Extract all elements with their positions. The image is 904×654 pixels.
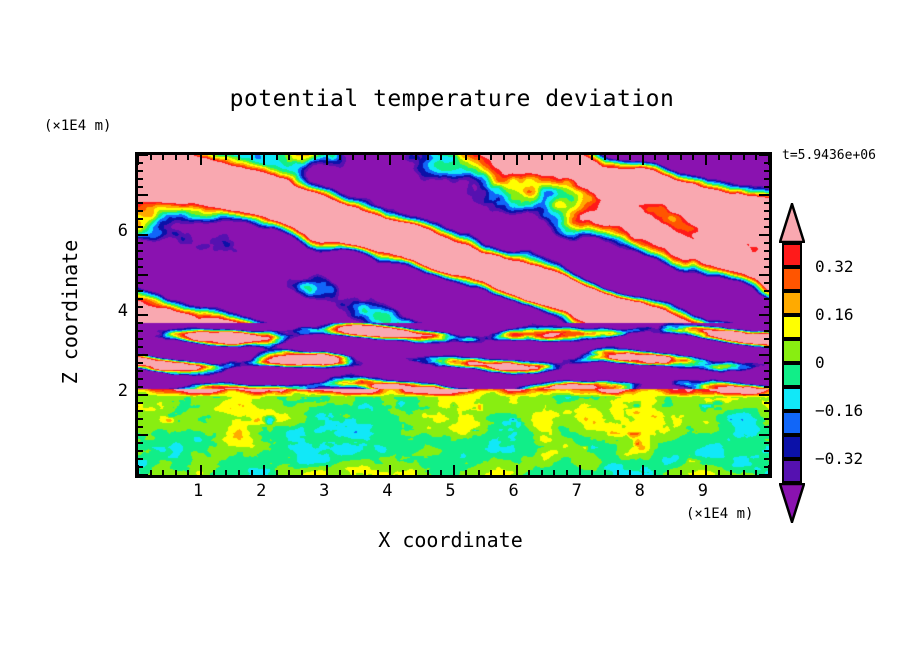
y-minor-tick-right	[764, 226, 770, 228]
colorbar-band	[782, 435, 802, 459]
x-tick-label: 3	[304, 481, 344, 501]
colorbar: 0.320.160−0.16−0.32	[779, 203, 805, 523]
x-minor-tick-bottom	[629, 470, 631, 476]
y-tick-left	[137, 434, 148, 436]
colorbar-band	[782, 339, 802, 363]
colorbar-under-arrow	[779, 483, 805, 523]
y-minor-tick-left	[137, 330, 143, 332]
y-minor-tick-left	[137, 170, 143, 172]
y-minor-tick-right	[764, 370, 770, 372]
y-tick-left	[137, 234, 148, 236]
y-minor-tick-right	[764, 178, 770, 180]
y-minor-tick-right	[764, 330, 770, 332]
x-tick-top	[263, 154, 265, 165]
x-minor-tick-top	[604, 154, 606, 160]
y-minor-tick-left	[137, 450, 143, 452]
x-tick-label: 2	[241, 481, 281, 501]
x-tick-top	[642, 154, 644, 165]
x-minor-tick-bottom	[692, 470, 694, 476]
x-minor-tick-top	[667, 154, 669, 160]
y-minor-tick-right	[764, 346, 770, 348]
x-minor-tick-bottom	[566, 470, 568, 476]
y-minor-tick-left	[137, 418, 143, 420]
x-tick-top	[579, 154, 581, 165]
y-minor-tick-right	[764, 338, 770, 340]
x-minor-tick-bottom	[238, 470, 240, 476]
y-minor-tick-left	[137, 242, 143, 244]
x-tick-top	[326, 154, 328, 165]
x-tick-bottom	[705, 465, 707, 476]
colorbar-tick-label: 0	[815, 353, 825, 372]
y-minor-tick-right	[764, 250, 770, 252]
x-tick-bottom	[263, 465, 265, 476]
y-minor-tick-right	[764, 218, 770, 220]
y-minor-tick-left	[137, 322, 143, 324]
y-tick-left	[137, 154, 148, 156]
x-minor-tick-top	[478, 154, 480, 160]
colorbar-over-arrow	[779, 203, 805, 243]
x-minor-tick-bottom	[162, 470, 164, 476]
x-minor-tick-top	[541, 154, 543, 160]
x-minor-tick-bottom	[415, 470, 417, 476]
x-tick-bottom	[453, 465, 455, 476]
x-minor-tick-bottom	[427, 470, 429, 476]
colorbar-tick-label: 0.16	[815, 305, 854, 324]
y-tick-left	[137, 394, 148, 396]
y-minor-tick-left	[137, 306, 143, 308]
colorbar-band	[782, 387, 802, 411]
x-tick-bottom	[326, 465, 328, 476]
y-minor-tick-left	[137, 178, 143, 180]
colorbar-band	[782, 315, 802, 339]
x-minor-tick-bottom	[718, 470, 720, 476]
x-minor-tick-bottom	[402, 470, 404, 476]
y-minor-tick-left	[137, 442, 143, 444]
y-minor-tick-left	[137, 362, 143, 364]
y-minor-tick-left	[137, 378, 143, 380]
x-tick-bottom	[516, 465, 518, 476]
x-tick-label: 9	[683, 481, 723, 501]
y-minor-tick-left	[137, 338, 143, 340]
y-tick-right	[759, 154, 770, 156]
y-tick-left	[137, 314, 148, 316]
x-minor-tick-top	[213, 154, 215, 160]
y-axis-unit-label: (×1E4 m)	[44, 118, 111, 134]
x-minor-tick-bottom	[553, 470, 555, 476]
y-tick-right	[759, 234, 770, 236]
x-minor-tick-top	[276, 154, 278, 160]
x-minor-tick-top	[251, 154, 253, 160]
x-minor-tick-top	[743, 154, 745, 160]
y-minor-tick-left	[137, 458, 143, 460]
y-minor-tick-left	[137, 298, 143, 300]
x-minor-tick-top	[339, 154, 341, 160]
y-minor-tick-right	[764, 170, 770, 172]
x-minor-tick-top	[301, 154, 303, 160]
x-tick-bottom	[579, 465, 581, 476]
x-minor-tick-bottom	[604, 470, 606, 476]
y-minor-tick-left	[137, 466, 143, 468]
colorbar-band	[782, 243, 802, 267]
x-minor-tick-bottom	[352, 470, 354, 476]
y-minor-tick-right	[764, 322, 770, 324]
x-minor-tick-top	[692, 154, 694, 160]
x-minor-tick-top	[503, 154, 505, 160]
x-minor-tick-bottom	[251, 470, 253, 476]
x-tick-top	[705, 154, 707, 165]
x-minor-tick-top	[314, 154, 316, 160]
y-tick-left	[137, 194, 148, 196]
time-annotation: t=5.9436e+06	[782, 148, 876, 163]
x-tick-top	[453, 154, 455, 165]
x-minor-tick-top	[629, 154, 631, 160]
colorbar-band	[782, 267, 802, 291]
y-minor-tick-right	[764, 290, 770, 292]
x-minor-tick-top	[680, 154, 682, 160]
x-minor-tick-top	[553, 154, 555, 160]
y-minor-tick-right	[764, 442, 770, 444]
x-tick-label: 5	[431, 481, 471, 501]
y-tick-label: 2	[88, 381, 128, 401]
x-minor-tick-top	[718, 154, 720, 160]
x-tick-bottom	[200, 465, 202, 476]
contour-plot-frame	[135, 152, 772, 478]
x-axis-title: X coordinate	[135, 528, 766, 552]
x-minor-tick-bottom	[175, 470, 177, 476]
x-tick-label: 8	[620, 481, 660, 501]
y-minor-tick-right	[764, 386, 770, 388]
x-minor-tick-top	[150, 154, 152, 160]
x-minor-tick-bottom	[654, 470, 656, 476]
x-minor-tick-bottom	[301, 470, 303, 476]
x-minor-tick-bottom	[187, 470, 189, 476]
x-minor-tick-bottom	[667, 470, 669, 476]
x-minor-tick-top	[730, 154, 732, 160]
y-minor-tick-left	[137, 210, 143, 212]
y-tick-right	[759, 434, 770, 436]
contour-field	[138, 155, 769, 475]
x-minor-tick-top	[617, 154, 619, 160]
x-minor-tick-bottom	[528, 470, 530, 476]
x-tick-label: 1	[178, 481, 218, 501]
y-minor-tick-left	[137, 346, 143, 348]
x-minor-tick-top	[162, 154, 164, 160]
colorbar-band	[782, 363, 802, 387]
x-minor-tick-bottom	[503, 470, 505, 476]
x-minor-tick-bottom	[478, 470, 480, 476]
y-tick-right	[759, 274, 770, 276]
x-minor-tick-bottom	[680, 470, 682, 476]
y-minor-tick-left	[137, 426, 143, 428]
y-minor-tick-left	[137, 266, 143, 268]
y-tick-left	[137, 354, 148, 356]
y-minor-tick-left	[137, 258, 143, 260]
x-minor-tick-top	[528, 154, 530, 160]
x-minor-tick-top	[352, 154, 354, 160]
x-tick-bottom	[389, 465, 391, 476]
y-tick-left	[137, 274, 148, 276]
y-minor-tick-right	[764, 258, 770, 260]
x-minor-tick-bottom	[465, 470, 467, 476]
y-minor-tick-left	[137, 202, 143, 204]
y-tick-right	[759, 314, 770, 316]
y-tick-right	[759, 474, 770, 476]
x-minor-tick-bottom	[440, 470, 442, 476]
y-minor-tick-right	[764, 266, 770, 268]
y-minor-tick-left	[137, 226, 143, 228]
x-minor-tick-top	[440, 154, 442, 160]
x-minor-tick-bottom	[213, 470, 215, 476]
x-tick-label: 6	[494, 481, 534, 501]
y-minor-tick-right	[764, 162, 770, 164]
y-minor-tick-right	[764, 378, 770, 380]
y-tick-right	[759, 394, 770, 396]
x-minor-tick-bottom	[377, 470, 379, 476]
colorbar-band	[782, 411, 802, 435]
y-minor-tick-left	[137, 370, 143, 372]
x-minor-tick-bottom	[225, 470, 227, 476]
x-minor-tick-top	[225, 154, 227, 160]
y-minor-tick-left	[137, 282, 143, 284]
x-tick-top	[516, 154, 518, 165]
x-tick-top	[389, 154, 391, 165]
colorbar-band	[782, 291, 802, 315]
y-minor-tick-right	[764, 466, 770, 468]
x-minor-tick-bottom	[490, 470, 492, 476]
x-minor-tick-bottom	[339, 470, 341, 476]
x-minor-tick-bottom	[730, 470, 732, 476]
y-tick-left	[137, 474, 148, 476]
x-minor-tick-top	[465, 154, 467, 160]
x-minor-tick-bottom	[541, 470, 543, 476]
y-minor-tick-right	[764, 458, 770, 460]
x-minor-tick-bottom	[755, 470, 757, 476]
y-minor-tick-right	[764, 298, 770, 300]
y-tick-label: 6	[88, 221, 128, 241]
y-minor-tick-left	[137, 386, 143, 388]
x-minor-tick-top	[238, 154, 240, 160]
y-minor-tick-left	[137, 162, 143, 164]
y-tick-right	[759, 194, 770, 196]
x-minor-tick-top	[187, 154, 189, 160]
y-minor-tick-left	[137, 218, 143, 220]
x-minor-tick-top	[427, 154, 429, 160]
x-minor-tick-top	[402, 154, 404, 160]
y-minor-tick-right	[764, 418, 770, 420]
y-minor-tick-right	[764, 306, 770, 308]
y-minor-tick-right	[764, 450, 770, 452]
y-tick-right	[759, 354, 770, 356]
x-minor-tick-bottom	[617, 470, 619, 476]
x-minor-tick-top	[288, 154, 290, 160]
y-minor-tick-right	[764, 410, 770, 412]
y-minor-tick-left	[137, 402, 143, 404]
x-minor-tick-bottom	[276, 470, 278, 476]
y-tick-label: 4	[88, 301, 128, 321]
y-minor-tick-right	[764, 426, 770, 428]
x-minor-tick-top	[415, 154, 417, 160]
x-axis-unit-label: (×1E4 m)	[686, 506, 753, 522]
x-minor-tick-top	[755, 154, 757, 160]
colorbar-tick-label: −0.16	[815, 401, 863, 420]
colorbar-tick-label: 0.32	[815, 257, 854, 276]
y-axis-title: Z coordinate	[58, 232, 82, 392]
x-minor-tick-top	[377, 154, 379, 160]
x-minor-tick-top	[364, 154, 366, 160]
x-minor-tick-top	[175, 154, 177, 160]
colorbar-tick-label: −0.32	[815, 449, 863, 468]
colorbar-band	[782, 459, 802, 483]
x-minor-tick-bottom	[288, 470, 290, 476]
y-minor-tick-right	[764, 242, 770, 244]
y-minor-tick-right	[764, 362, 770, 364]
x-minor-tick-bottom	[150, 470, 152, 476]
x-tick-bottom	[642, 465, 644, 476]
y-minor-tick-right	[764, 186, 770, 188]
x-minor-tick-bottom	[743, 470, 745, 476]
y-minor-tick-right	[764, 282, 770, 284]
x-minor-tick-bottom	[591, 470, 593, 476]
y-minor-tick-left	[137, 186, 143, 188]
y-minor-tick-right	[764, 402, 770, 404]
x-minor-tick-bottom	[364, 470, 366, 476]
x-tick-top	[200, 154, 202, 165]
x-minor-tick-top	[654, 154, 656, 160]
y-minor-tick-left	[137, 290, 143, 292]
y-minor-tick-left	[137, 410, 143, 412]
x-tick-label: 7	[557, 481, 597, 501]
y-minor-tick-right	[764, 210, 770, 212]
y-minor-tick-left	[137, 250, 143, 252]
x-minor-tick-top	[591, 154, 593, 160]
y-minor-tick-right	[764, 202, 770, 204]
x-tick-label: 4	[367, 481, 407, 501]
page-title: potential temperature deviation	[0, 86, 904, 112]
x-minor-tick-top	[490, 154, 492, 160]
x-minor-tick-top	[566, 154, 568, 160]
x-minor-tick-bottom	[314, 470, 316, 476]
